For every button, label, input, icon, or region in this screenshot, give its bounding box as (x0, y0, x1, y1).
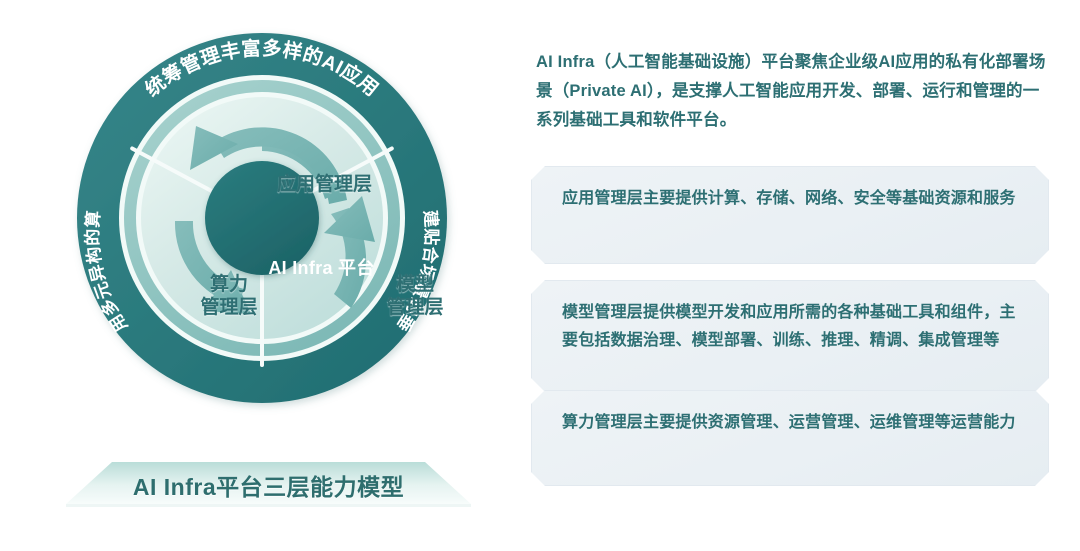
core-platform-label: AI Infra 平台 (244, 254, 399, 280)
card-model-layer: 模型管理层提供模型开发和应用所需的各种基础工具和组件，主要包括数据治理、模型部署… (531, 280, 1049, 392)
card-compute-layer-text: 算力管理层主要提供资源管理、运营管理、运维管理等运营能力 (562, 409, 1017, 437)
description-panel: AI Infra（人工智能基础设施）平台聚焦企业级AI应用的私有化部署场景（Pr… (523, 0, 1063, 551)
intro-paragraph: AI Infra（人工智能基础设施）平台聚焦企业级AI应用的私有化部署场景（Pr… (536, 48, 1046, 135)
card-application-layer: 应用管理层主要提供计算、存储、网络、安全等基础资源和服务 (531, 166, 1049, 264)
concentric-ring-graphic: 统筹管理丰富多样的AI应用 高效利用多元异构的算力资源 快速构建贴合场景的垂域模… (62, 18, 462, 458)
three-layer-capability-diagram: 统筹管理丰富多样的AI应用 高效利用多元异构的算力资源 快速构建贴合场景的垂域模… (0, 0, 520, 551)
layer-label-application: 应用管理层 (212, 173, 437, 196)
layer-label-compute-line2: 管理层 (174, 296, 284, 319)
card-model-layer-text: 模型管理层提供模型开发和应用所需的各种基础工具和组件，主要包括数据治理、模型部署… (562, 299, 1017, 355)
card-application-layer-text: 应用管理层主要提供计算、存储、网络、安全等基础资源和服务 (562, 185, 1017, 213)
card-compute-layer: 算力管理层主要提供资源管理、运营管理、运维管理等运营能力 (531, 390, 1049, 486)
layer-label-model-line2: 管理层 (360, 296, 470, 319)
diagram-title-text: AI Infra平台三层能力模型 (66, 462, 471, 508)
diagram-title-ribbon: AI Infra平台三层能力模型 (66, 462, 471, 508)
ring-svg: 统筹管理丰富多样的AI应用 高效利用多元异构的算力资源 快速构建贴合场景的垂域模… (62, 18, 462, 458)
infographic-page: 统筹管理丰富多样的AI应用 高效利用多元异构的算力资源 快速构建贴合场景的垂域模… (0, 0, 1080, 551)
